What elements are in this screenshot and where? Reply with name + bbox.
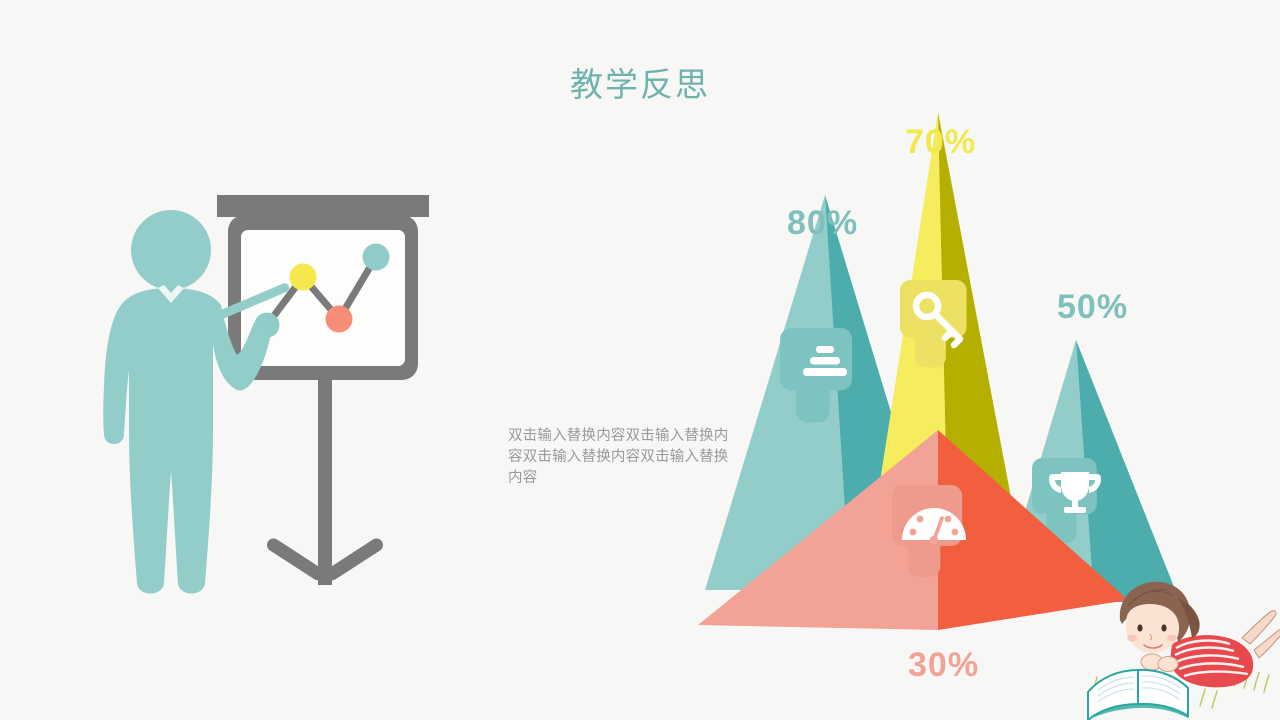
open-book-icon [1088, 670, 1188, 720]
chart-dot-2 [290, 264, 317, 291]
percent-label-80: 80% [787, 204, 858, 243]
presenter-illustration [95, 185, 565, 625]
girl-eye-left [1137, 624, 1142, 631]
chart-dot-4 [363, 244, 390, 271]
girl-eye-right [1161, 624, 1166, 631]
girl-face [1126, 604, 1179, 653]
slide-canvas: 教学反思 [0, 0, 1280, 720]
easel-stand-icon [265, 370, 386, 585]
percent-label-30: 30% [908, 646, 979, 685]
chart-dot-3 [326, 306, 353, 333]
page-title: 教学反思 [0, 58, 1280, 106]
percent-label-50: 50% [1057, 288, 1128, 327]
percent-label-70: 70% [905, 123, 976, 162]
girl-body [1170, 635, 1253, 687]
girl-reading-illustration [1084, 578, 1280, 720]
